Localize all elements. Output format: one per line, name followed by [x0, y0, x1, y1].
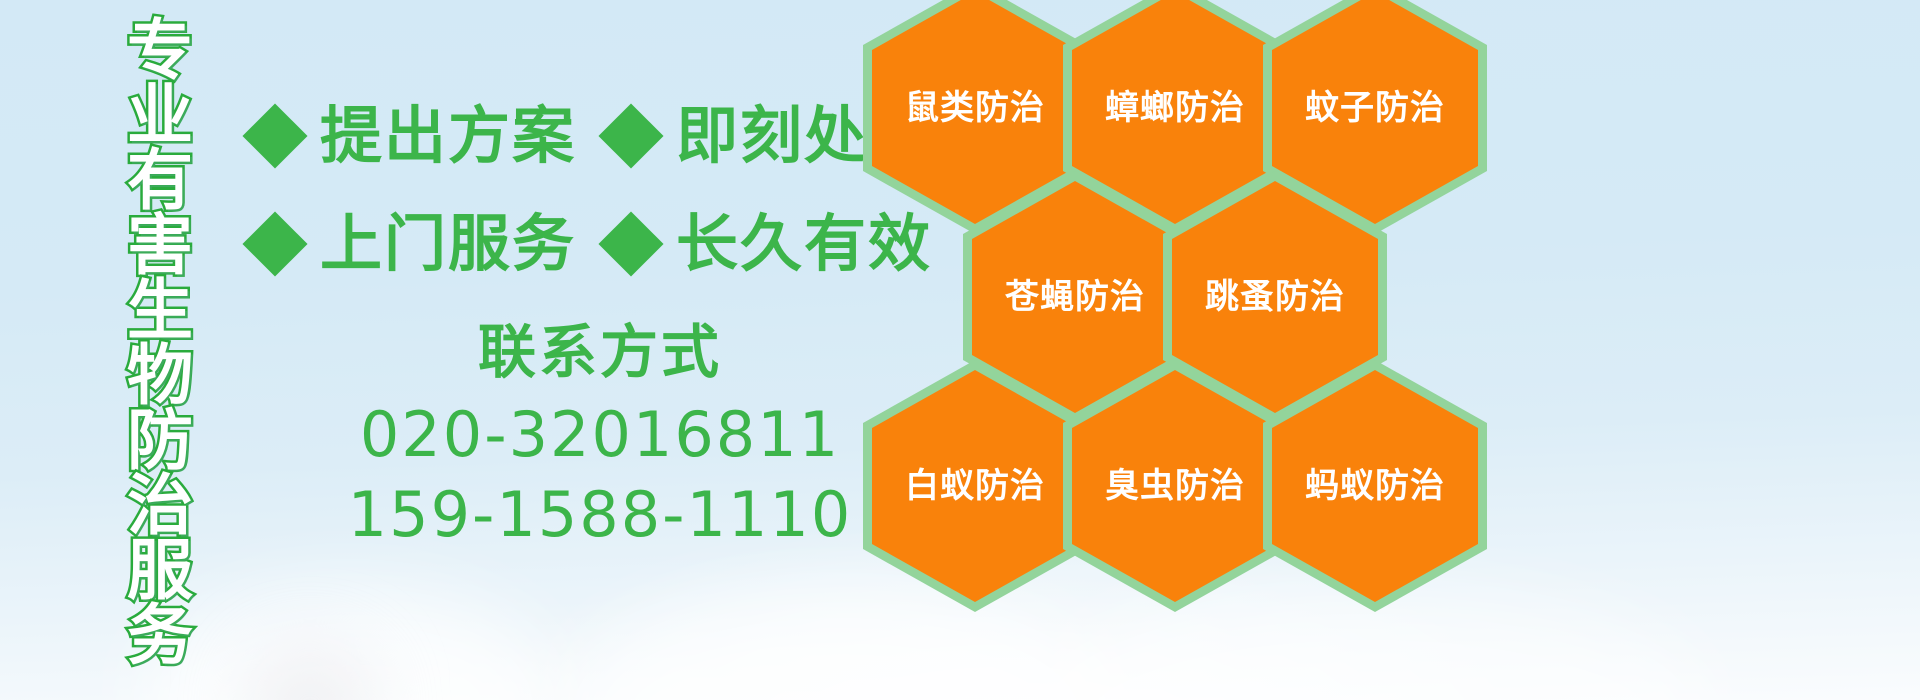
- feature-label: 上门服务: [320, 213, 576, 275]
- vertical-headline-char: 有: [127, 148, 193, 213]
- feature-item-door-to-door-service: 上门服务: [252, 213, 576, 275]
- hex-inner: 白蚁防治: [872, 370, 1078, 602]
- vertical-headline: 专 业 有 害 生 物 防 治 服 务: [112, 18, 208, 668]
- hex-label: 跳蚤防治: [1205, 280, 1345, 314]
- service-hexagon-grid: 鼠类防治 蟑螂防治 蚊子防治 苍蝇防治 跳蚤防治 白蚁防治: [855, 0, 1495, 700]
- hex-inner: 臭虫防治: [1072, 370, 1278, 602]
- vertical-headline-char: 物: [127, 343, 193, 408]
- background-haze-blob: [250, 650, 370, 700]
- vertical-headline-char: 务: [127, 603, 193, 668]
- diamond-bullet-icon: [598, 103, 663, 168]
- vertical-headline-char: 害: [127, 213, 193, 278]
- pest-control-banner: 专 业 有 害 生 物 防 治 服 务 提出方案 即刻处理 上门服务: [0, 0, 1920, 700]
- diamond-bullet-icon: [598, 211, 663, 276]
- feature-label: 提出方案: [320, 105, 576, 167]
- contact-phone-landline[interactable]: 020-32016811: [300, 395, 900, 476]
- hex-inner: 蚂蚁防治: [1272, 370, 1478, 602]
- contact-title: 联系方式: [300, 316, 900, 389]
- feature-item-propose-plan: 提出方案: [252, 105, 576, 167]
- vertical-headline-char: 服: [127, 538, 193, 603]
- feature-list: 提出方案 即刻处理 上门服务 长久有效: [252, 82, 872, 298]
- hex-label: 苍蝇防治: [1005, 280, 1145, 314]
- diamond-bullet-icon: [242, 211, 307, 276]
- feature-row: 提出方案 即刻处理: [252, 82, 872, 190]
- hex-label: 蟑螂防治: [1105, 91, 1245, 125]
- hex-label: 白蚁防治: [905, 469, 1045, 503]
- contact-phone-mobile[interactable]: 159-1588-1110: [300, 475, 900, 556]
- hex-label: 臭虫防治: [1105, 469, 1245, 503]
- feature-row: 上门服务 长久有效: [252, 190, 872, 298]
- hex-label: 蚂蚁防治: [1305, 469, 1445, 503]
- vertical-headline-char: 生: [127, 278, 193, 343]
- diamond-bullet-icon: [242, 103, 307, 168]
- vertical-headline-char: 业: [127, 83, 193, 148]
- hex-label: 蚊子防治: [1305, 91, 1445, 125]
- vertical-headline-char: 专: [127, 18, 193, 83]
- vertical-headline-char: 治: [127, 473, 193, 538]
- contact-block: 联系方式 020-32016811 159-1588-1110: [300, 316, 900, 556]
- vertical-headline-char: 防: [127, 408, 193, 473]
- hex-label: 鼠类防治: [905, 91, 1045, 125]
